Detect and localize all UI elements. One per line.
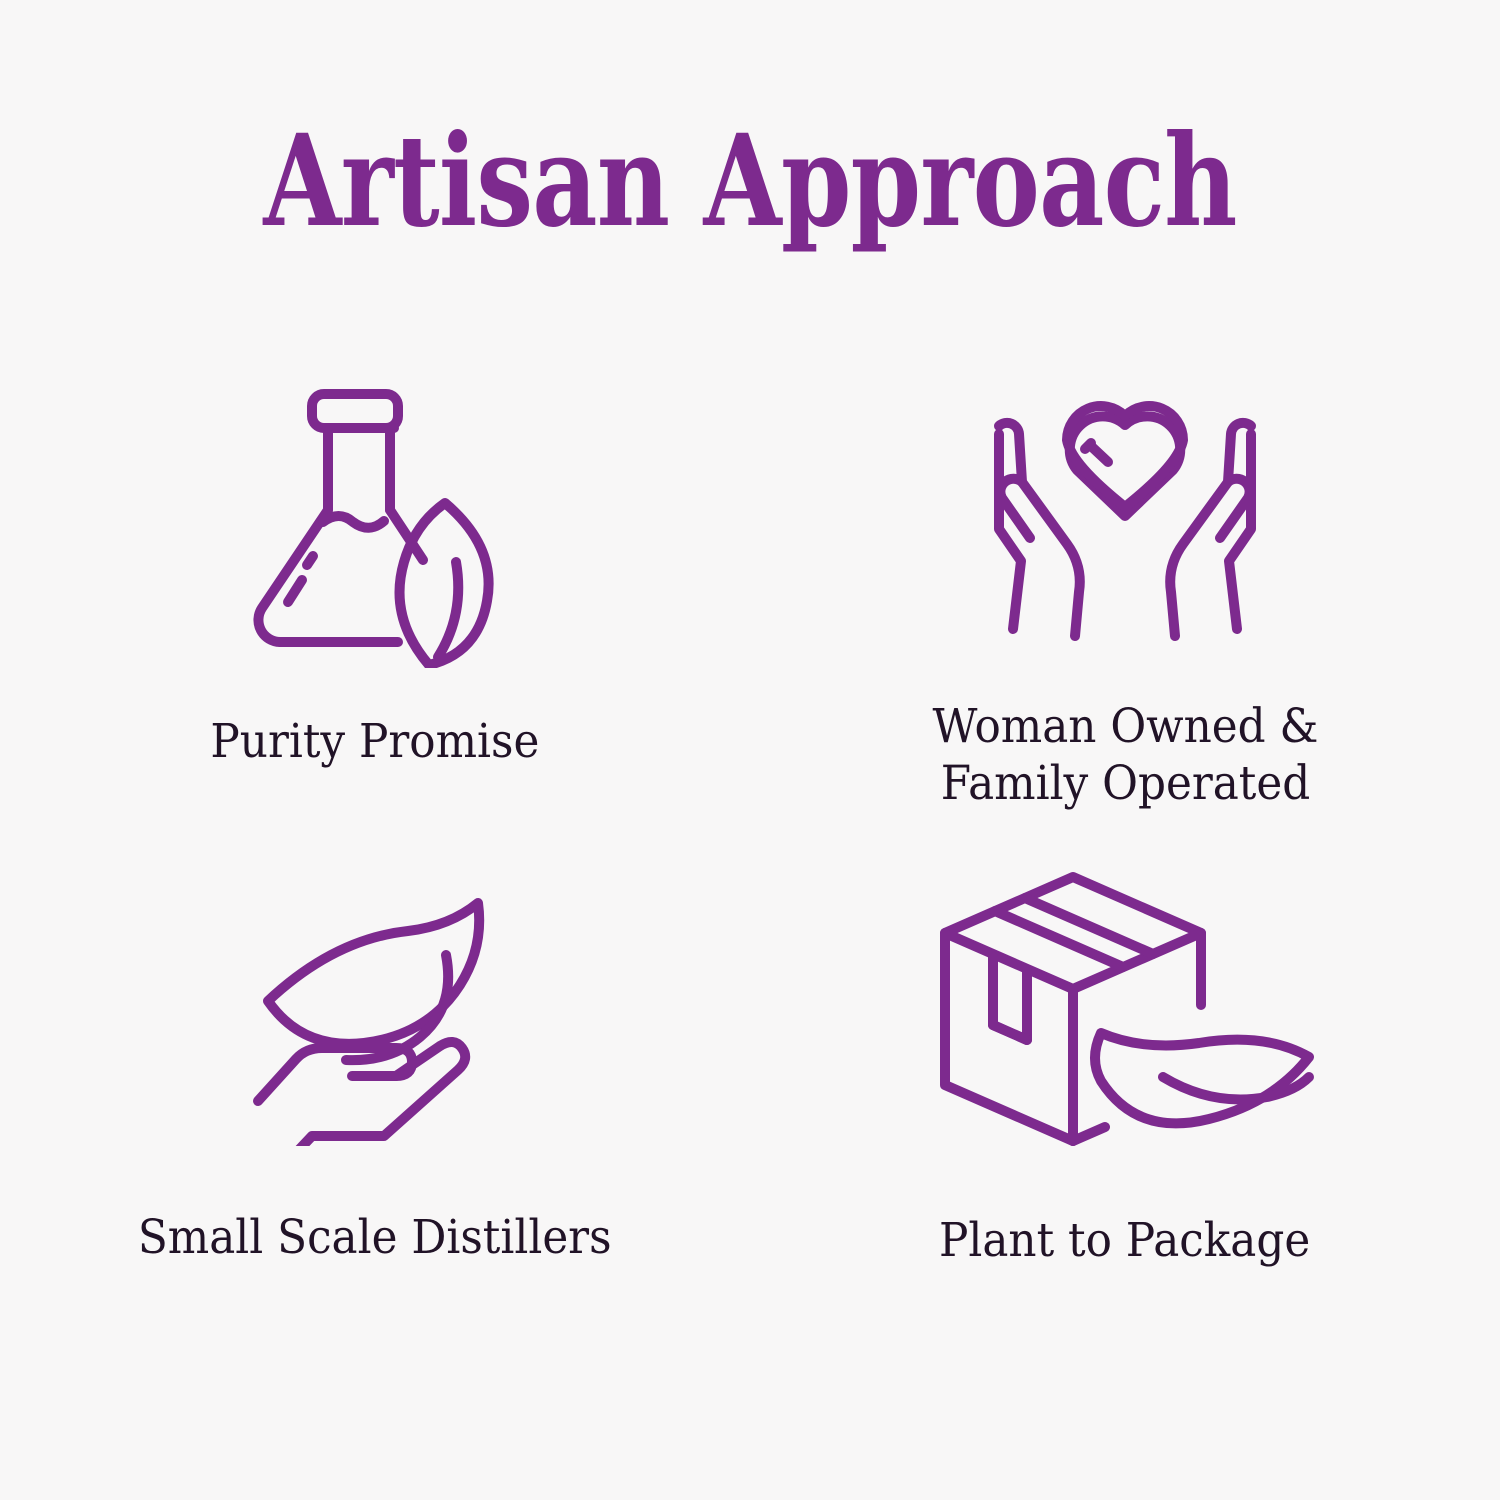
feature-label-line: Family Operated bbox=[932, 755, 1318, 812]
feature-grid: Purity Promise bbox=[0, 350, 1500, 1360]
feature-label-line: Purity Promise bbox=[211, 713, 540, 770]
feature-label-line: Plant to Package bbox=[939, 1212, 1310, 1269]
feature-label-line: Woman Owned & bbox=[932, 698, 1318, 755]
feature-item-plant-to-package: Plant to Package bbox=[750, 855, 1500, 1360]
feature-item-woman-owned: Woman Owned & Family Operated bbox=[750, 350, 1500, 855]
feature-label-plant-to-package: Plant to Package bbox=[939, 1212, 1310, 1269]
feature-label-small-scale-distillers: Small Scale Distillers bbox=[138, 1209, 612, 1266]
feature-label-purity-promise: Purity Promise bbox=[211, 713, 540, 770]
hand-holding-leaf-icon bbox=[250, 891, 500, 1151]
feature-label-woman-owned: Woman Owned & Family Operated bbox=[932, 698, 1318, 813]
flask-leaf-icon bbox=[240, 368, 510, 673]
feature-item-small-scale-distillers: Small Scale Distillers bbox=[0, 855, 750, 1360]
page-title: Artisan Approach bbox=[150, 118, 1350, 244]
hands-holding-heart-icon bbox=[965, 386, 1285, 646]
artisan-approach-panel: Artisan Approach bbox=[0, 0, 1500, 1500]
box-leaf-icon bbox=[925, 865, 1325, 1170]
feature-item-purity-promise: Purity Promise bbox=[0, 350, 750, 855]
feature-label-line: Small Scale Distillers bbox=[138, 1209, 612, 1266]
